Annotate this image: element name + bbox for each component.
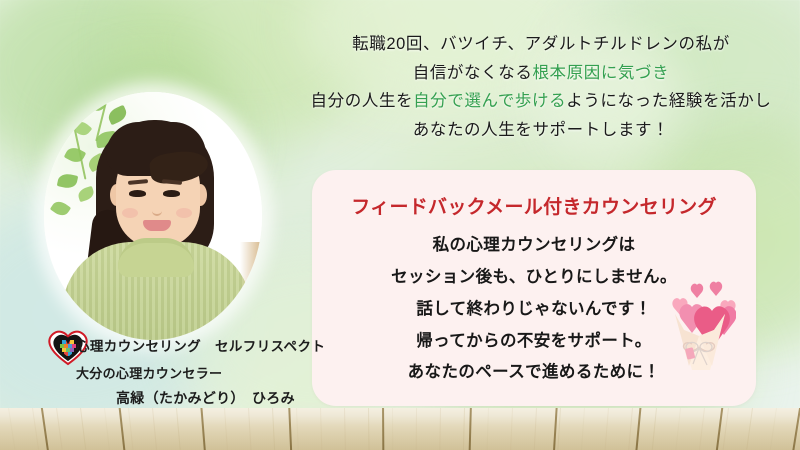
sweater-collar (118, 238, 194, 277)
card-body-line: 私の心理カウンセリングは (312, 230, 756, 262)
credit-block: 心理カウンセリング セルフリスペクト 大分の心理カウンセラー 高緑（たかみどり）… (76, 338, 326, 408)
headline-block: 転職20回、バツイチ、アダルトチルドレンの私が 自信がなくなる根本原因に気づき … (286, 30, 796, 145)
deck-plank-seam (382, 408, 384, 450)
deck-grain (392, 408, 393, 450)
headline-line-1: 転職20回、バツイチ、アダルトチルドレンの私が (286, 30, 796, 59)
headline-line-2-text-a: 自信がなくなる (413, 64, 533, 82)
headline-line-3-text-c: ようになった経験を活かし (566, 92, 771, 110)
card-title: フィードバックメール付きカウンセリング (312, 192, 756, 219)
headline-line-2: 自信がなくなる根本原因に気づき (286, 59, 796, 88)
nose (152, 204, 162, 216)
headline-line-4-text: あなたの人生をサポートします！ (413, 121, 670, 139)
cheek (122, 208, 138, 218)
headline-line-4: あなたの人生をサポートします！ (286, 116, 796, 145)
cheek (176, 208, 192, 218)
headline-line-2-highlight: 根本原因に気づき (532, 64, 669, 82)
headline-line-1-text: 転職20回、バツイチ、アダルトチルドレンの私が (352, 35, 730, 53)
heart-bouquet-icon (662, 274, 736, 378)
headline-line-3-highlight: 自分で選んで歩ける (413, 92, 566, 110)
banner-root: 転職20回、バツイチ、アダルトチルドレンの私が 自信がなくなる根本原因に気づき … (0, 0, 800, 450)
eye (129, 190, 146, 197)
hair-bangs (106, 122, 206, 176)
wooden-deck (0, 408, 800, 450)
eye (163, 190, 180, 197)
service-name: 心理カウンセリング セルフリスペクト (76, 338, 326, 356)
counselor-name: 高緑（たかみどり） ひろみ (116, 389, 326, 407)
counseling-card: フィードバックメール付きカウンセリング 私の心理カウンセリングは セッション後も… (312, 170, 756, 406)
counselor-photo (44, 92, 262, 340)
counselor-role: 大分の心理カウンセラー (76, 366, 326, 383)
headline-line-3-text-a: 自分の人生を (311, 92, 414, 110)
headline-line-3: 自分の人生を自分で選んで歩けるようになった経験を活かし (286, 87, 796, 116)
mouth (143, 220, 171, 231)
photo-wood-edge (240, 242, 262, 340)
